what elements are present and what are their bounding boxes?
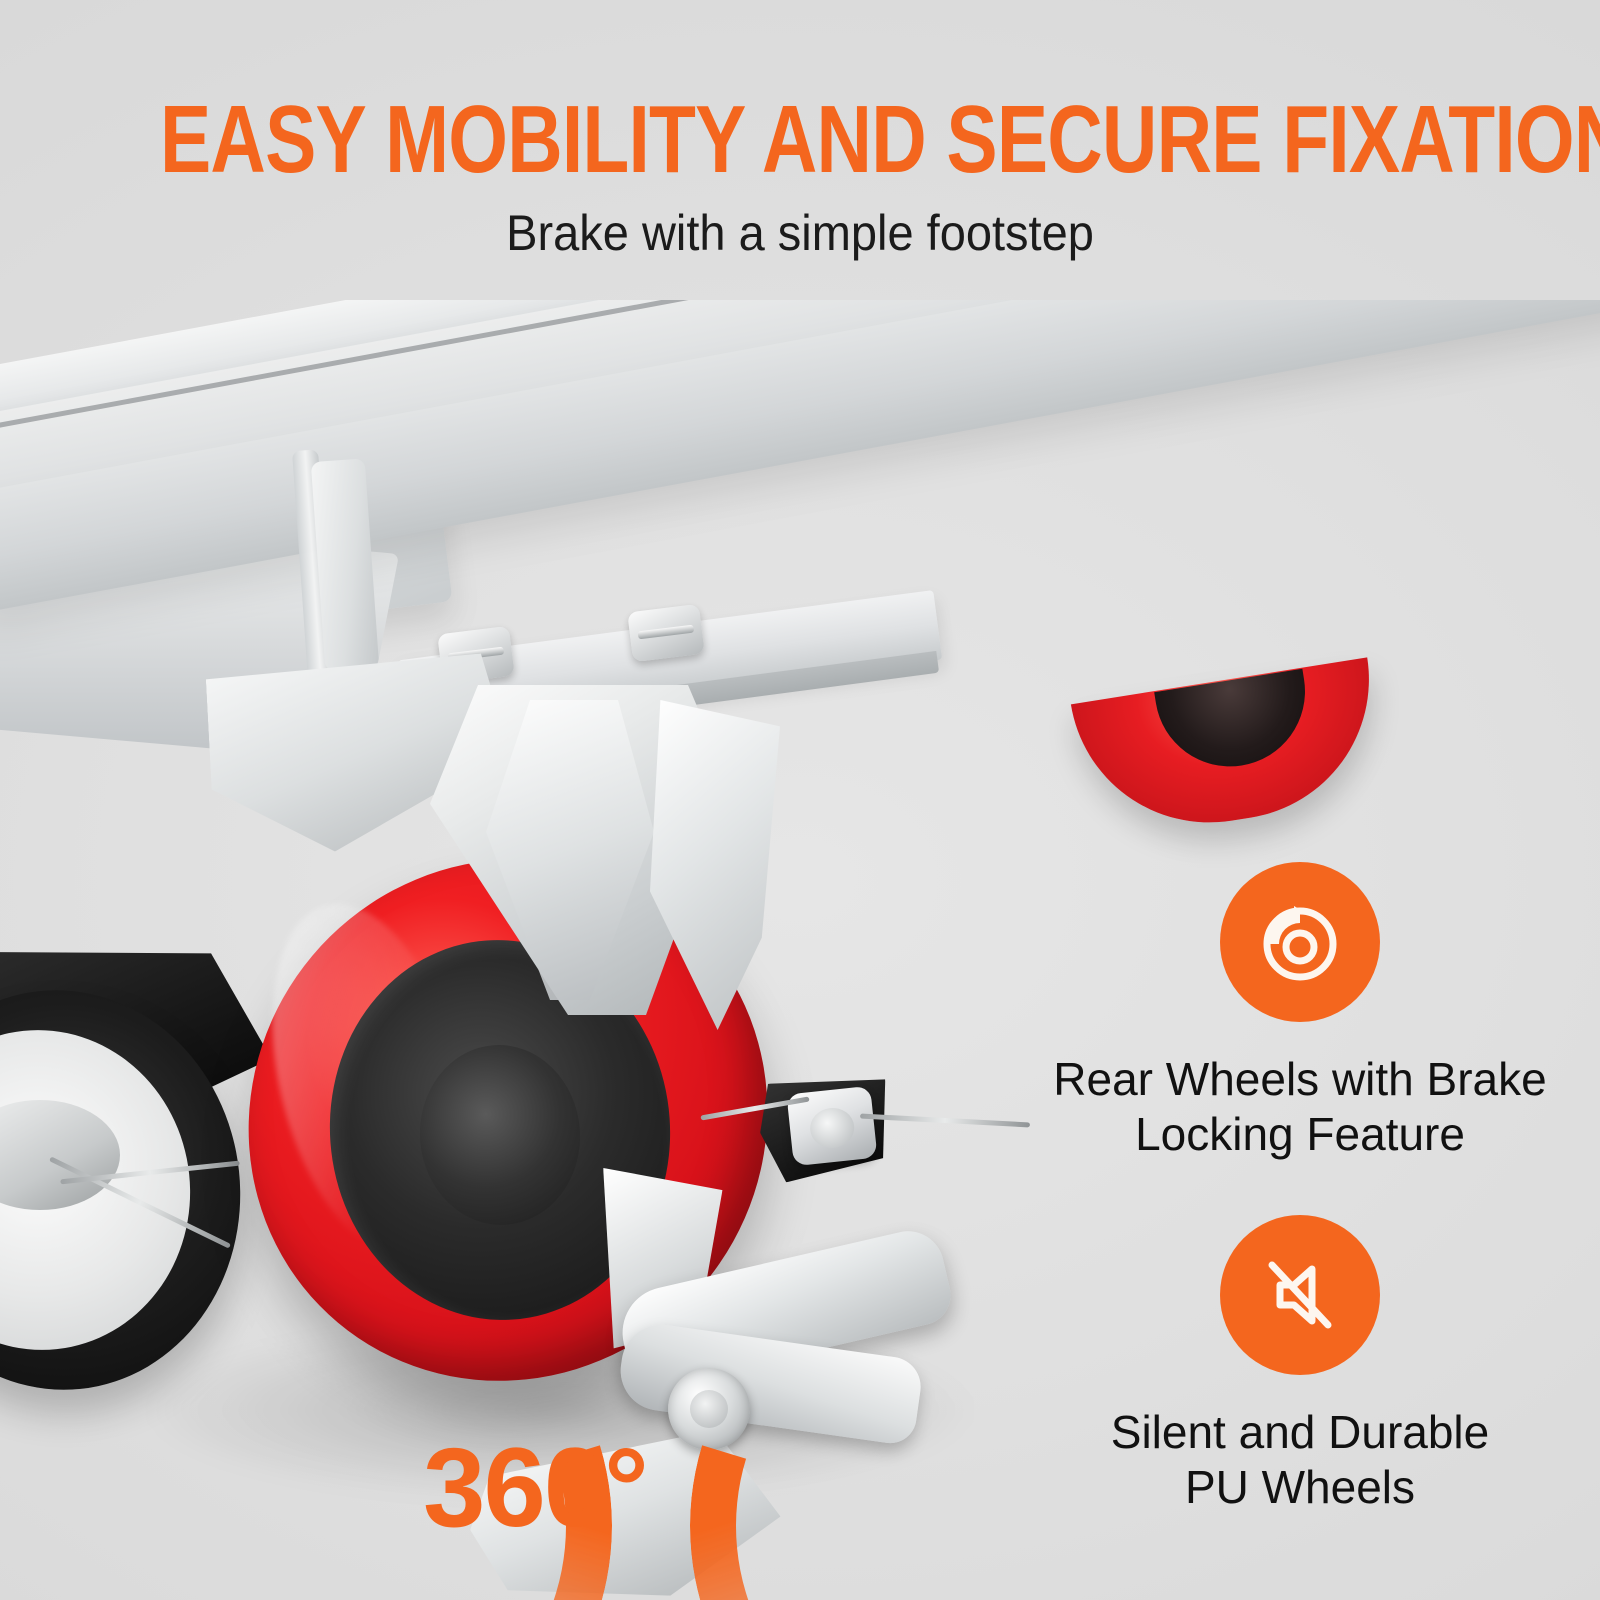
feature-brake-lock: Rear Wheels with Brake Locking Feature <box>1040 862 1560 1162</box>
page-subtitle: Brake with a simple footstep <box>48 208 1552 258</box>
feature-silent-pu-line2: PU Wheels <box>1040 1460 1560 1515</box>
feature-silent-pu: Silent and Durable PU Wheels <box>1040 1215 1560 1515</box>
feature-brake-lock-line1: Rear Wheels with Brake <box>1040 1052 1560 1107</box>
feature-brake-lock-caption: Rear Wheels with Brake Locking Feature <box>1040 1052 1560 1162</box>
mute-speaker-icon <box>1220 1215 1380 1375</box>
rotation-badge-label: 360° <box>370 1432 700 1544</box>
cotter-pin-right <box>860 1114 1030 1128</box>
brake-disc-icon <box>1220 862 1380 1022</box>
feature-silent-pu-line1: Silent and Durable <box>1040 1405 1560 1460</box>
feature-brake-lock-line2: Locking Feature <box>1040 1107 1560 1162</box>
hex-bolt-plate-right <box>627 604 705 662</box>
page-title: EASY MOBILITY AND SECURE FIXATION <box>160 92 1440 188</box>
feature-silent-pu-caption: Silent and Durable PU Wheels <box>1040 1405 1560 1515</box>
product-feature-image: EASY MOBILITY AND SECURE FIXATION Brake … <box>0 0 1600 1600</box>
